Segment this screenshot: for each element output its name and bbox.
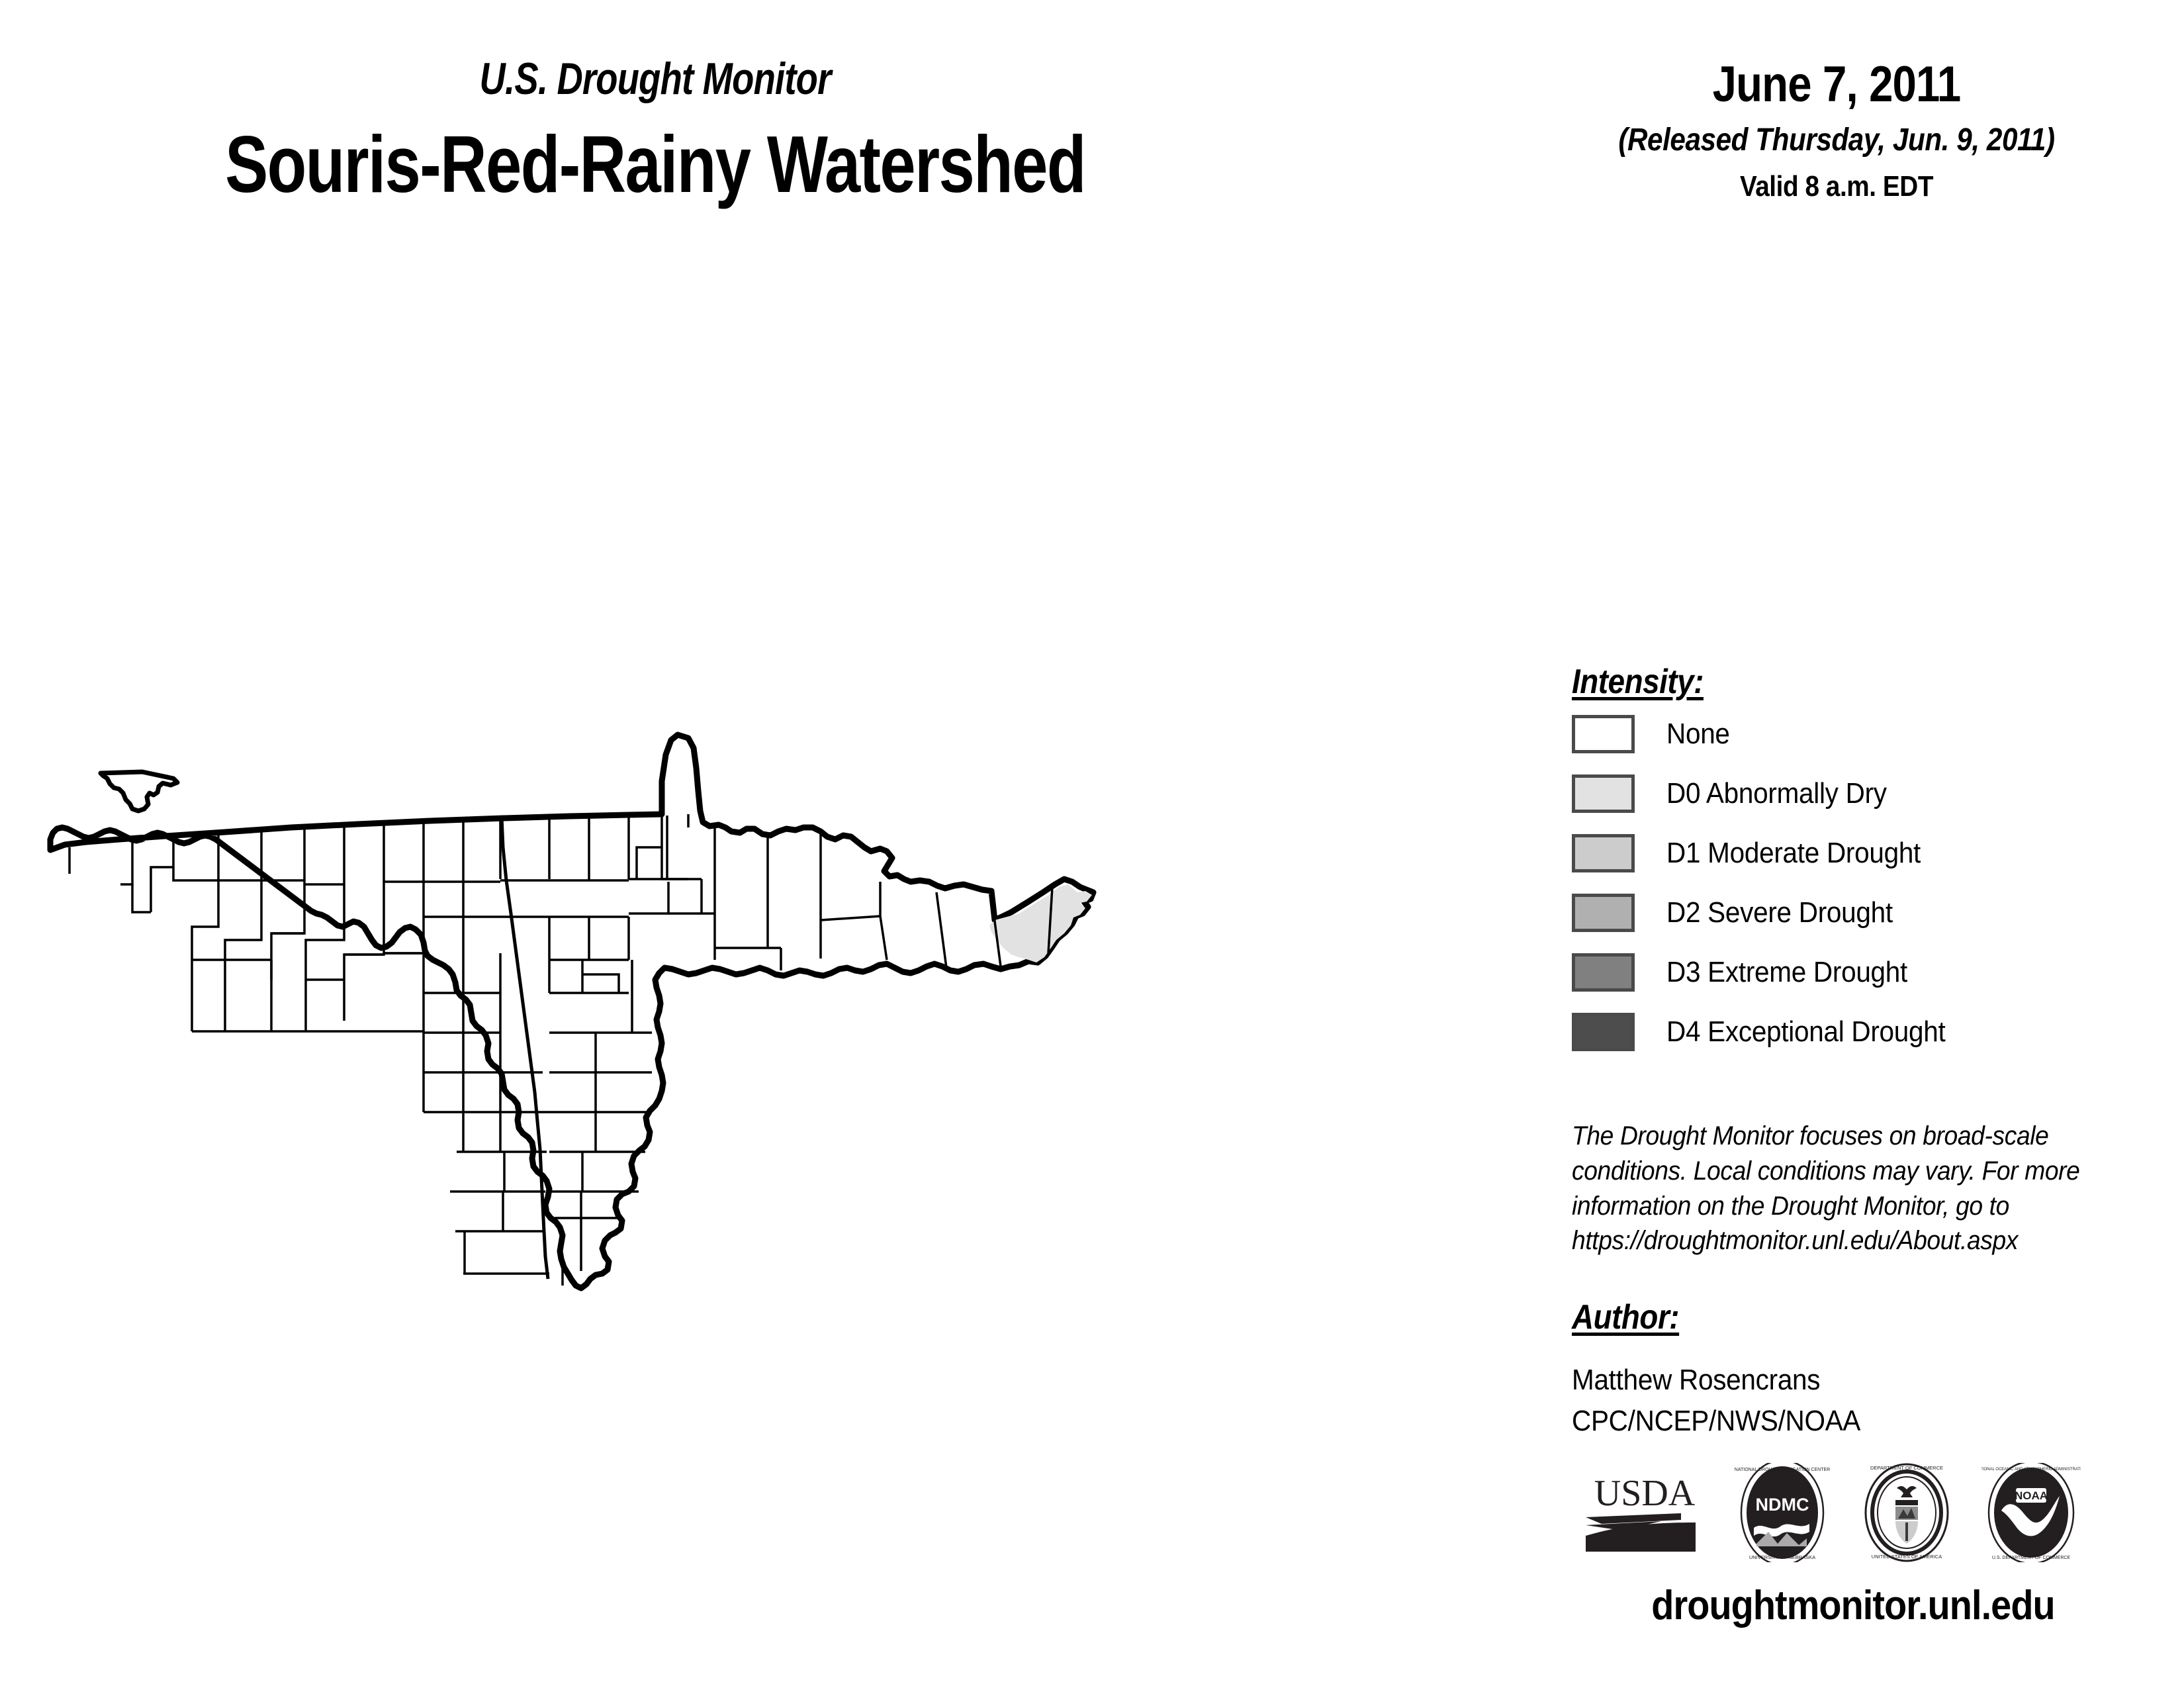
legend-item-d4[interactable]: D4 Exceptional Drought bbox=[1572, 1011, 2167, 1053]
legend-label-none: None bbox=[1666, 718, 1730, 751]
legend-label-d4: D4 Exceptional Drought bbox=[1666, 1015, 1945, 1049]
valid-time: Valid 8 a.m. EDT bbox=[1560, 170, 2113, 203]
legend-label-d1: D1 Moderate Drought bbox=[1666, 837, 1921, 870]
ndmc-ring-bottom: UNIVERSITY OF NEBRASKA bbox=[1749, 1554, 1815, 1560]
map-detached-fragment bbox=[101, 772, 177, 811]
noaa-wordmark: NOAA bbox=[2015, 1489, 2048, 1502]
legend-item-d0[interactable]: D0 Abnormally Dry bbox=[1572, 773, 2167, 814]
noaa-ring-bottom: U.S. DEPARTMENT OF COMMERCE bbox=[1992, 1556, 2071, 1560]
date-block: June 7, 2011 (Released Thursday, Jun. 9,… bbox=[1522, 60, 2151, 203]
page-subtitle: U.S. Drought Monitor bbox=[131, 53, 1179, 105]
legend-label-d2: D2 Severe Drought bbox=[1666, 896, 1893, 929]
author-organization: CPC/NCEP/NWS/NOAA bbox=[1572, 1405, 1860, 1438]
disclaimer-text: The Drought Monitor focuses on broad-sca… bbox=[1572, 1119, 2083, 1258]
agency-logos: USDA NDMC NATIONAL DROUGHT MITIGATION CE… bbox=[1582, 1466, 2124, 1559]
author-name: Matthew Rosencrans bbox=[1572, 1364, 1820, 1397]
release-date: (Released Thursday, Jun. 9, 2011) bbox=[1560, 122, 2113, 158]
doc-logo: DEPARTMENT OF COMMERCE UNITED STATES OF … bbox=[1857, 1463, 1956, 1562]
legend-swatch-d0 bbox=[1572, 774, 1635, 813]
ndmc-wordmark: NDMC bbox=[1756, 1495, 1809, 1515]
legend-item-d1[interactable]: D1 Moderate Drought bbox=[1572, 833, 2167, 874]
legend-item-d3[interactable]: D3 Extreme Drought bbox=[1572, 952, 2167, 993]
legend-swatch-d2 bbox=[1572, 894, 1635, 932]
legend-swatch-none bbox=[1572, 715, 1635, 753]
ndmc-ring-top: NATIONAL DROUGHT MITIGATION CENTER bbox=[1735, 1468, 1830, 1472]
legend-item-d2[interactable]: D2 Severe Drought bbox=[1572, 892, 2167, 933]
map-watershed-outline bbox=[50, 735, 1093, 1288]
noaa-logo: NOAA NATIONAL OCEANIC AND ATMOSPHERIC AD… bbox=[1981, 1463, 2081, 1562]
legend-swatch-d3 bbox=[1572, 953, 1635, 992]
ndmc-logo: NDMC NATIONAL DROUGHT MITIGATION CENTER … bbox=[1733, 1463, 1832, 1562]
valid-date: June 7, 2011 bbox=[1567, 60, 2107, 110]
page-title: Souris-Red-Rainy Watershed bbox=[131, 118, 1179, 211]
map-svg bbox=[0, 649, 1522, 1311]
site-url[interactable]: droughtmonitor.unl.edu bbox=[1591, 1582, 2115, 1629]
noaa-ring-top: NATIONAL OCEANIC AND ATMOSPHERIC ADMINIS… bbox=[1981, 1468, 2081, 1472]
legend-swatch-d1 bbox=[1572, 834, 1635, 872]
author-heading: Author: bbox=[1572, 1297, 1679, 1337]
usda-logo: USDA bbox=[1582, 1470, 1707, 1556]
legend-swatch-d4 bbox=[1572, 1013, 1635, 1051]
legend-label-d3: D3 Extreme Drought bbox=[1666, 956, 1907, 989]
doc-ring-bottom: UNITED STATES OF AMERICA bbox=[1872, 1554, 1942, 1560]
usda-wordmark: USDA bbox=[1594, 1473, 1696, 1514]
legend-label-d0: D0 Abnormally Dry bbox=[1666, 777, 1887, 810]
intensity-legend: Intensity: None D0 Abnormally Dry D1 Mod… bbox=[1572, 662, 2167, 1071]
legend-item-none[interactable]: None bbox=[1572, 714, 2167, 755]
legend-heading: Intensity: bbox=[1572, 662, 1704, 702]
watershed-map[interactable] bbox=[0, 649, 1522, 1311]
doc-ring-top: DEPARTMENT OF COMMERCE bbox=[1870, 1465, 1943, 1471]
